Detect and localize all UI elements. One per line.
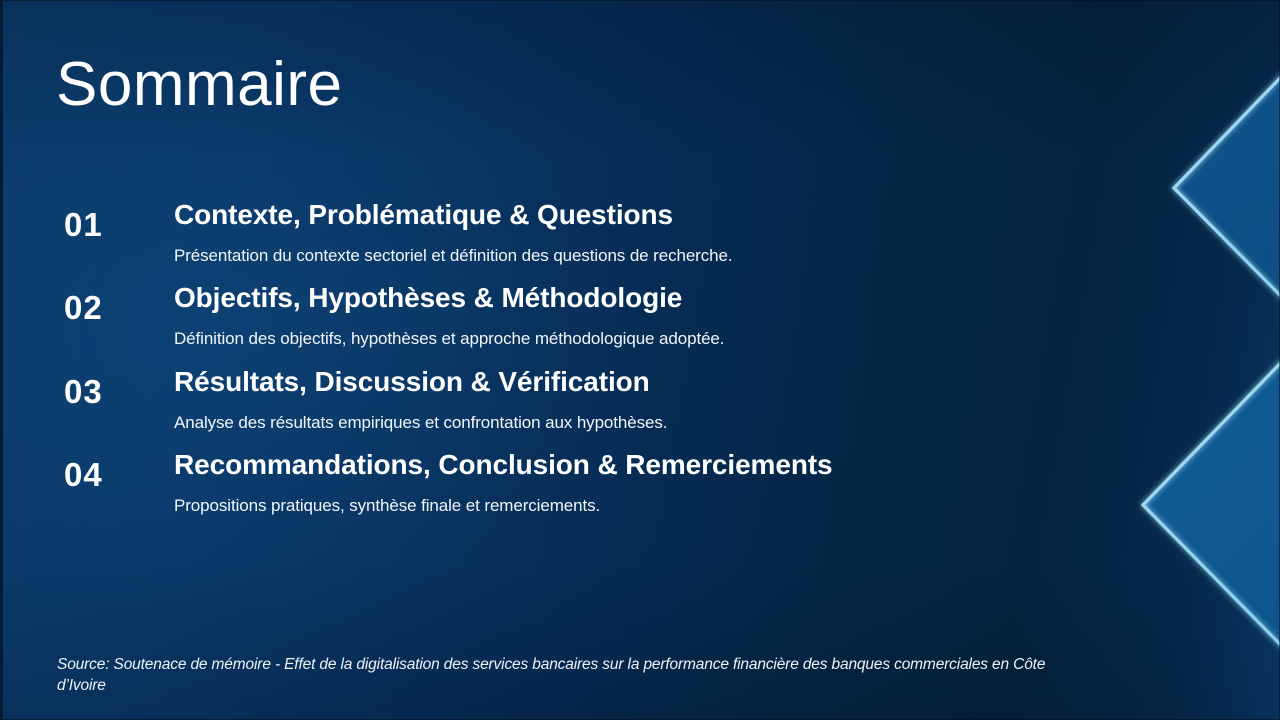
agenda-item-01[interactable]: 01 Contexte, Problématique & Questions P… — [64, 198, 984, 267]
agenda-item-subtitle: Définition des objectifs, hypothèses et … — [174, 328, 984, 350]
agenda-item-number: 01 — [64, 198, 174, 245]
agenda-item-number: 03 — [64, 365, 174, 412]
agenda-item-heading: Recommandations, Conclusion & Remercieme… — [174, 448, 984, 482]
agenda-item-heading: Contexte, Problématique & Questions — [174, 198, 984, 232]
agenda-item-03[interactable]: 03 Résultats, Discussion & Vérification … — [64, 365, 984, 434]
agenda-item-heading: Objectifs, Hypothèses & Méthodologie — [174, 281, 984, 315]
agenda-item-heading: Résultats, Discussion & Vérification — [174, 365, 984, 399]
agenda-item-body: Contexte, Problématique & Questions Prés… — [174, 198, 984, 267]
agenda-item-04[interactable]: 04 Recommandations, Conclusion & Remerci… — [64, 448, 984, 517]
agenda-item-02[interactable]: 02 Objectifs, Hypothèses & Méthodologie … — [64, 281, 984, 350]
agenda-item-subtitle: Analyse des résultats empiriques et conf… — [174, 412, 984, 434]
agenda-item-number: 02 — [64, 281, 174, 328]
page-title: Sommaire — [56, 52, 343, 117]
agenda-item-subtitle: Présentation du contexte sectoriel et dé… — [174, 245, 984, 267]
agenda-list: 01 Contexte, Problématique & Questions P… — [64, 198, 984, 531]
source-caption: Source: Soutenace de mémoire - Effet de … — [57, 655, 1069, 696]
agenda-item-subtitle: Propositions pratiques, synthèse finale … — [174, 495, 984, 517]
presentation-slide: Sommaire 01 Contexte, Problématique & Qu… — [0, 0, 1280, 720]
agenda-item-body: Recommandations, Conclusion & Remercieme… — [174, 448, 984, 517]
agenda-item-number: 04 — [64, 448, 174, 495]
agenda-item-body: Résultats, Discussion & Vérification Ana… — [174, 365, 984, 434]
agenda-item-body: Objectifs, Hypothèses & Méthodologie Déf… — [174, 281, 984, 350]
